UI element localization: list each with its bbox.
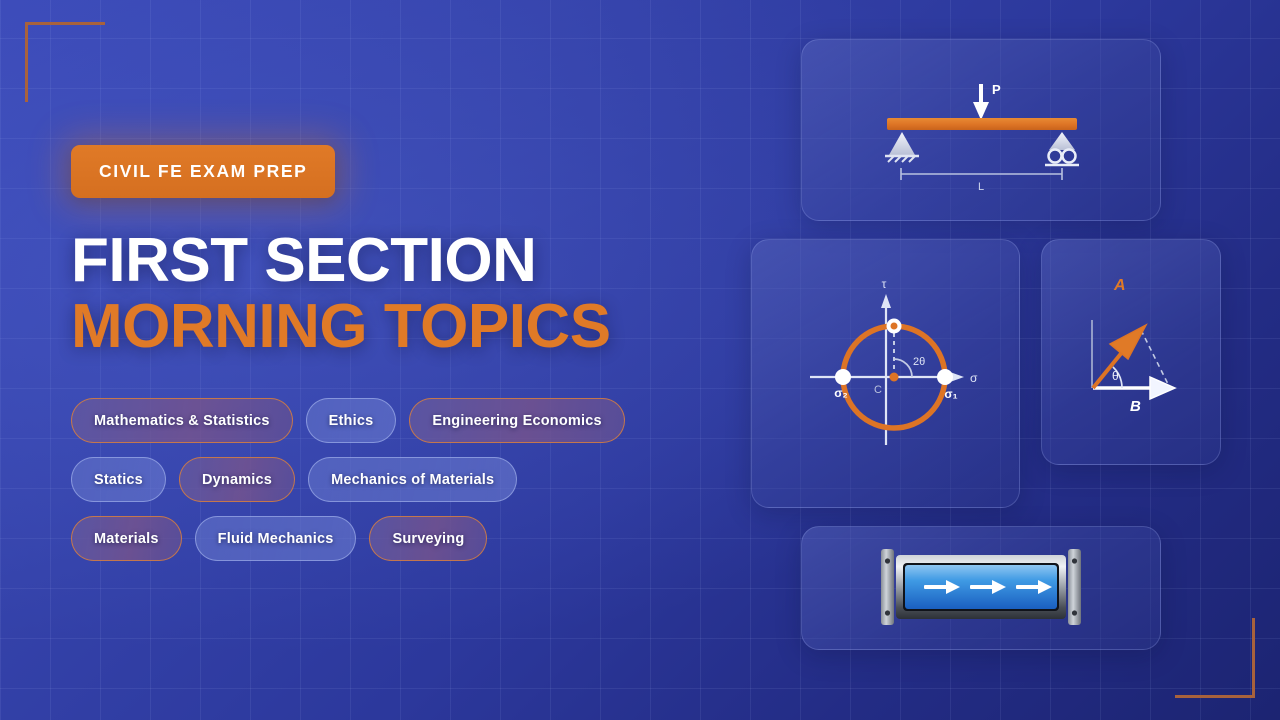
topic-pill-engineering-economics[interactable]: Engineering Economics [409, 398, 624, 443]
bracket-vertical-line [25, 22, 28, 102]
topic-pill-materials[interactable]: Materials [71, 516, 182, 561]
title-line-1: FIRST SECTION [71, 226, 536, 295]
topic-pill-dynamics[interactable]: Dynamics [179, 457, 295, 502]
topic-pill-mathematics-statistics[interactable]: Mathematics & Statistics [71, 398, 293, 443]
two-theta-label: 2θ [913, 356, 925, 368]
circle-center-point [890, 373, 899, 382]
sigma1-point [937, 369, 953, 385]
topic-row: Statics Dynamics Mechanics of Materials [71, 457, 691, 502]
tau-axis-label: τ [882, 277, 887, 291]
tau-axis-arrow [881, 294, 891, 308]
title-line-2: MORNING TOPICS [71, 294, 691, 360]
beam-diagram-card: P [801, 39, 1161, 221]
exam-prep-badge[interactable]: CIVIL FE EXAM PREP [71, 145, 335, 198]
topic-pill-fluid-mechanics[interactable]: Fluid Mechanics [195, 516, 357, 561]
pipe-flange-right [1068, 549, 1081, 625]
beam-diagram-svg: P [802, 40, 1160, 220]
mohr-axes [810, 302, 957, 445]
point-load-arrow [973, 84, 989, 120]
roller-support [1045, 132, 1079, 165]
vector-b-label: B [1130, 398, 1141, 415]
pipe-flow-svg [802, 527, 1160, 649]
slide-canvas: CIVIL FE EXAM PREP FIRST SECTION MORNING… [0, 0, 1280, 720]
page-title: FIRST SECTION MORNING TOPICS [71, 228, 691, 359]
bracket-vertical-line [1252, 618, 1255, 698]
topic-pill-mechanics-of-materials[interactable]: Mechanics of Materials [308, 457, 517, 502]
topic-pill-list: Mathematics & Statistics Ethics Engineer… [71, 398, 691, 575]
load-label: P [992, 82, 1001, 97]
pipe-flow-card [801, 526, 1161, 650]
vector-a-label: A [1113, 277, 1126, 294]
mohr-circle-card: τ σ 2θ σ₂ σ₁ C [751, 239, 1020, 508]
span-label: L [978, 181, 984, 193]
vector-b [1093, 377, 1175, 399]
vector-diagram-card: B A θ [1041, 239, 1221, 465]
sigma2-label: σ₂ [834, 386, 848, 400]
topic-pill-surveying[interactable]: Surveying [369, 516, 487, 561]
vector-diagram-svg: B A θ [1042, 240, 1220, 464]
pipe-flange-left [881, 549, 894, 625]
stress-state-point-core [891, 323, 898, 330]
theta-label: θ [1112, 369, 1119, 383]
bracket-horizontal-line [1175, 695, 1255, 698]
topic-row: Mathematics & Statistics Ethics Engineer… [71, 398, 691, 443]
topic-pill-ethics[interactable]: Ethics [306, 398, 397, 443]
center-label: C [874, 384, 882, 396]
mohr-circle-svg: τ σ 2θ σ₂ σ₁ C [752, 240, 1019, 507]
pin-support [885, 132, 919, 162]
span-dimension [901, 168, 1062, 180]
sigma-axis-label: σ [970, 371, 978, 385]
topic-pill-statics[interactable]: Statics [71, 457, 166, 502]
sigma1-label: σ₁ [944, 387, 957, 401]
hero-column: CIVIL FE EXAM PREP FIRST SECTION MORNING… [71, 0, 691, 720]
topic-row: Materials Fluid Mechanics Surveying [71, 516, 691, 561]
corner-bracket-bottom-right [1175, 618, 1255, 698]
beam-member [887, 118, 1077, 130]
sigma2-point [835, 369, 851, 385]
vector-a [1093, 325, 1146, 388]
